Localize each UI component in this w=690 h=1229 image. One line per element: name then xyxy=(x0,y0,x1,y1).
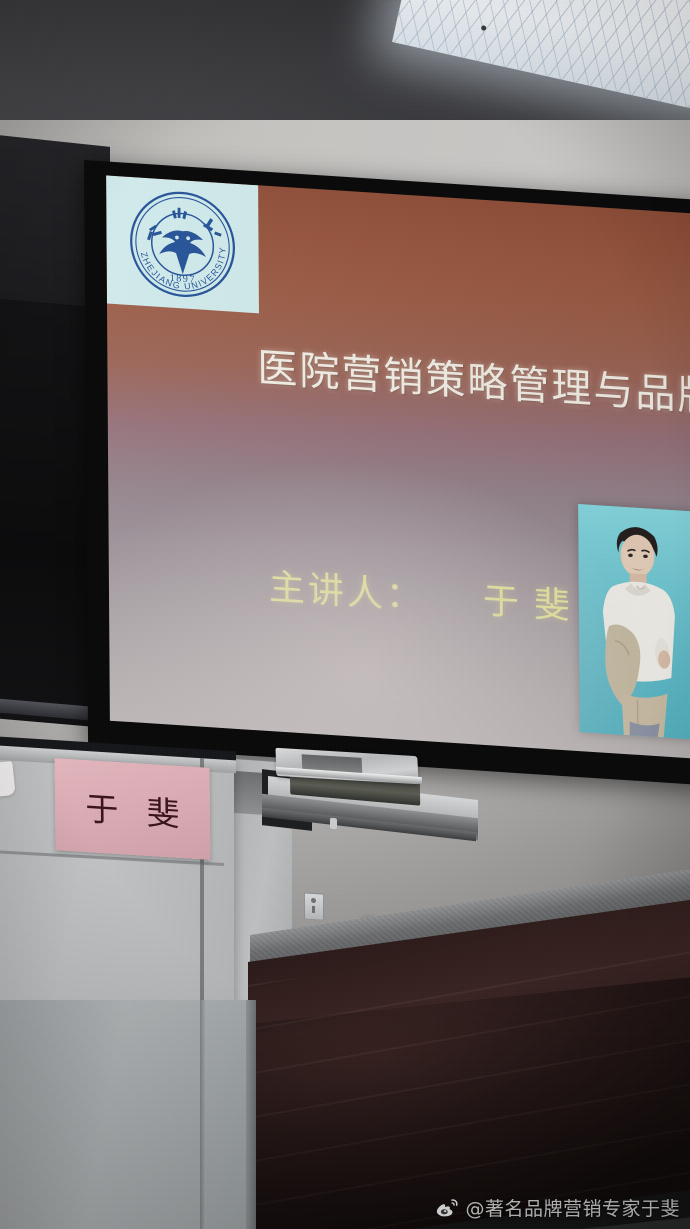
presenter-label: 主讲人： xyxy=(269,567,425,617)
slide-presenter-line: 主讲人： 于 斐 xyxy=(269,558,573,630)
podium-lower-right-edge xyxy=(246,1000,256,1229)
slide-title: 医院营销策略管理与品牌建设 xyxy=(257,335,690,428)
presenter-name: 于 斐 xyxy=(483,581,573,627)
zhejiang-university-seal-icon: 1897 ZHEJIANG UNIVERSITY xyxy=(126,185,239,304)
speaker-portrait-illustration xyxy=(578,504,690,740)
speaker-nameplate: 于 斐 xyxy=(55,758,211,860)
presenter-spacer xyxy=(437,610,471,612)
speaker-portrait xyxy=(578,504,690,740)
projection-screen-frame: 1897 ZHEJIANG UNIVERSITY 医院营销策略管理与品牌建设 主… xyxy=(84,160,690,786)
projection-screen: 1897 ZHEJIANG UNIVERSITY 医院营销策略管理与品牌建设 主… xyxy=(84,160,690,786)
nameplate-text: 于 斐 xyxy=(75,781,190,836)
weibo-handle: @著名品牌营销专家于斐 xyxy=(465,1194,680,1221)
weibo-icon xyxy=(435,1196,459,1220)
photograph-canvas: 1897 ZHEJIANG UNIVERSITY 医院营销策略管理与品牌建设 主… xyxy=(0,0,690,1229)
podium-lower-panel-seam xyxy=(200,1000,206,1229)
tray-rail-bolt xyxy=(330,818,337,830)
weibo-watermark: @著名品牌营销专家于斐 xyxy=(435,1194,680,1221)
wall-outlet[interactable] xyxy=(304,892,324,920)
podium-lower-panel xyxy=(0,1000,250,1229)
blackboard xyxy=(0,293,90,726)
presentation-slide: 1897 ZHEJIANG UNIVERSITY 医院营销策略管理与品牌建设 主… xyxy=(106,175,690,759)
zhejiang-university-logo-panel: 1897 ZHEJIANG UNIVERSITY xyxy=(106,175,259,313)
